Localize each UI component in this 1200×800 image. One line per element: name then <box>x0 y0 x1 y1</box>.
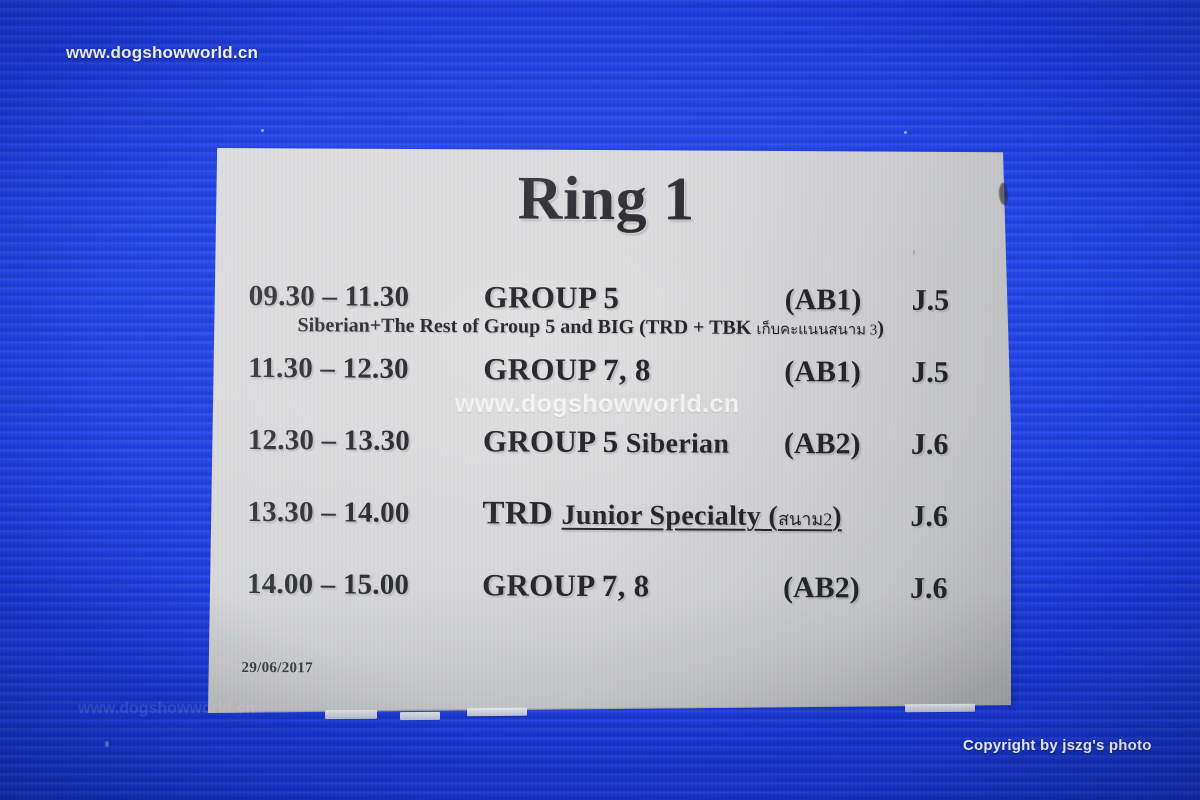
sign-content: Ring 1 09.30 – 11.30 GROUP 5 (AB1) J.5 S… <box>199 142 1011 717</box>
row-judge: J.6 <box>910 572 948 606</box>
wall-smudge <box>999 183 1008 205</box>
row-ring: (AB2) <box>784 427 861 461</box>
tape-strip <box>325 710 377 719</box>
date-stamp: 29/06/2017 <box>242 660 313 677</box>
row-ring: (AB1) <box>784 355 861 389</box>
tape-strip <box>467 708 527 716</box>
watermark-top-left: www.dogshowworld.cn <box>66 43 258 63</box>
schedule-list: 09.30 – 11.30 GROUP 5 (AB1) J.5 Siberian… <box>199 280 1011 645</box>
row-subnote-main: Siberian+The Rest of Group 5 and BIG (TR… <box>297 314 756 339</box>
row-judge: J.6 <box>911 428 949 462</box>
row-event-main: GROUP 5 <box>483 423 619 459</box>
row-event-main: GROUP 5 <box>484 279 620 315</box>
row-event-main: TRD <box>482 495 553 531</box>
printed-sign-paper: Ring 1 09.30 – 11.30 GROUP 5 (AB1) J.5 S… <box>199 142 1027 722</box>
row-subnote: Siberian+The Rest of Group 5 and BIG (TR… <box>297 314 884 341</box>
schedule-row: 09.30 – 11.30 GROUP 5 (AB1) J.5 Siberian… <box>199 280 1011 357</box>
row-event-thai: สนาม2 <box>778 509 832 529</box>
row-event-main: GROUP 7, 8 <box>482 567 650 603</box>
schedule-row: 14.00 – 15.00 GROUP 7, 8 (AB2) J.6 <box>199 568 1010 645</box>
sign-title-text: Ring 1 <box>518 164 695 236</box>
row-ring: (AB1) <box>785 283 862 317</box>
row-event-main: GROUP 7, 8 <box>483 351 651 387</box>
row-event-thai-close: ) <box>832 501 842 532</box>
tape-strip <box>400 712 440 720</box>
tape-strip <box>905 704 975 713</box>
dust-speck <box>261 129 264 132</box>
schedule-row: 12.30 – 13.30 GROUP 5 Siberian (AB2) J.6 <box>199 424 1011 501</box>
row-event-underlined: Junior Specialty (สนาม2) <box>562 500 843 533</box>
dust-speck <box>105 741 109 747</box>
row-ring: (AB2) <box>783 571 860 605</box>
row-time: 12.30 – 13.30 <box>248 424 410 458</box>
photograph-canvas: Ring 1 09.30 – 11.30 GROUP 5 (AB1) J.5 S… <box>0 0 1200 800</box>
row-time: 09.30 – 11.30 <box>249 280 410 314</box>
row-event: GROUP 5 <box>484 279 620 316</box>
dust-speck <box>904 131 907 134</box>
row-event: GROUP 5 Siberian <box>483 423 730 460</box>
row-judge: J.5 <box>912 284 950 318</box>
row-event: GROUP 7, 8 <box>483 351 651 388</box>
row-judge: J.6 <box>910 500 948 534</box>
row-judge: J.5 <box>911 356 949 390</box>
schedule-row: 13.30 – 14.00 TRD Junior Specialty (สนาม… <box>199 496 1011 573</box>
row-event-thai-open: ( <box>761 501 778 532</box>
row-event: GROUP 7, 8 <box>482 567 650 604</box>
paper-sheet: Ring 1 09.30 – 11.30 GROUP 5 (AB1) J.5 S… <box>199 142 1011 717</box>
row-event-underlined-text: Junior Specialty <box>562 500 762 532</box>
row-event: TRD Junior Specialty (สนาม2) <box>482 495 842 534</box>
row-time: 13.30 – 14.00 <box>247 496 409 530</box>
row-event-extra: Siberian <box>618 428 729 460</box>
schedule-row: 11.30 – 12.30 GROUP 7, 8 (AB1) J.5 <box>199 352 1011 429</box>
row-time: 14.00 – 15.00 <box>247 568 409 602</box>
page-title: Ring 1 <box>200 162 1011 238</box>
dust-speck <box>913 250 915 255</box>
row-time: 11.30 – 12.30 <box>248 352 409 386</box>
row-subnote-thai: เก็บคะแนนสนาม 3 <box>756 322 877 339</box>
watermark-copyright: Copyright by jszg's photo <box>963 737 1152 754</box>
row-subnote-tail: ) <box>877 318 884 340</box>
